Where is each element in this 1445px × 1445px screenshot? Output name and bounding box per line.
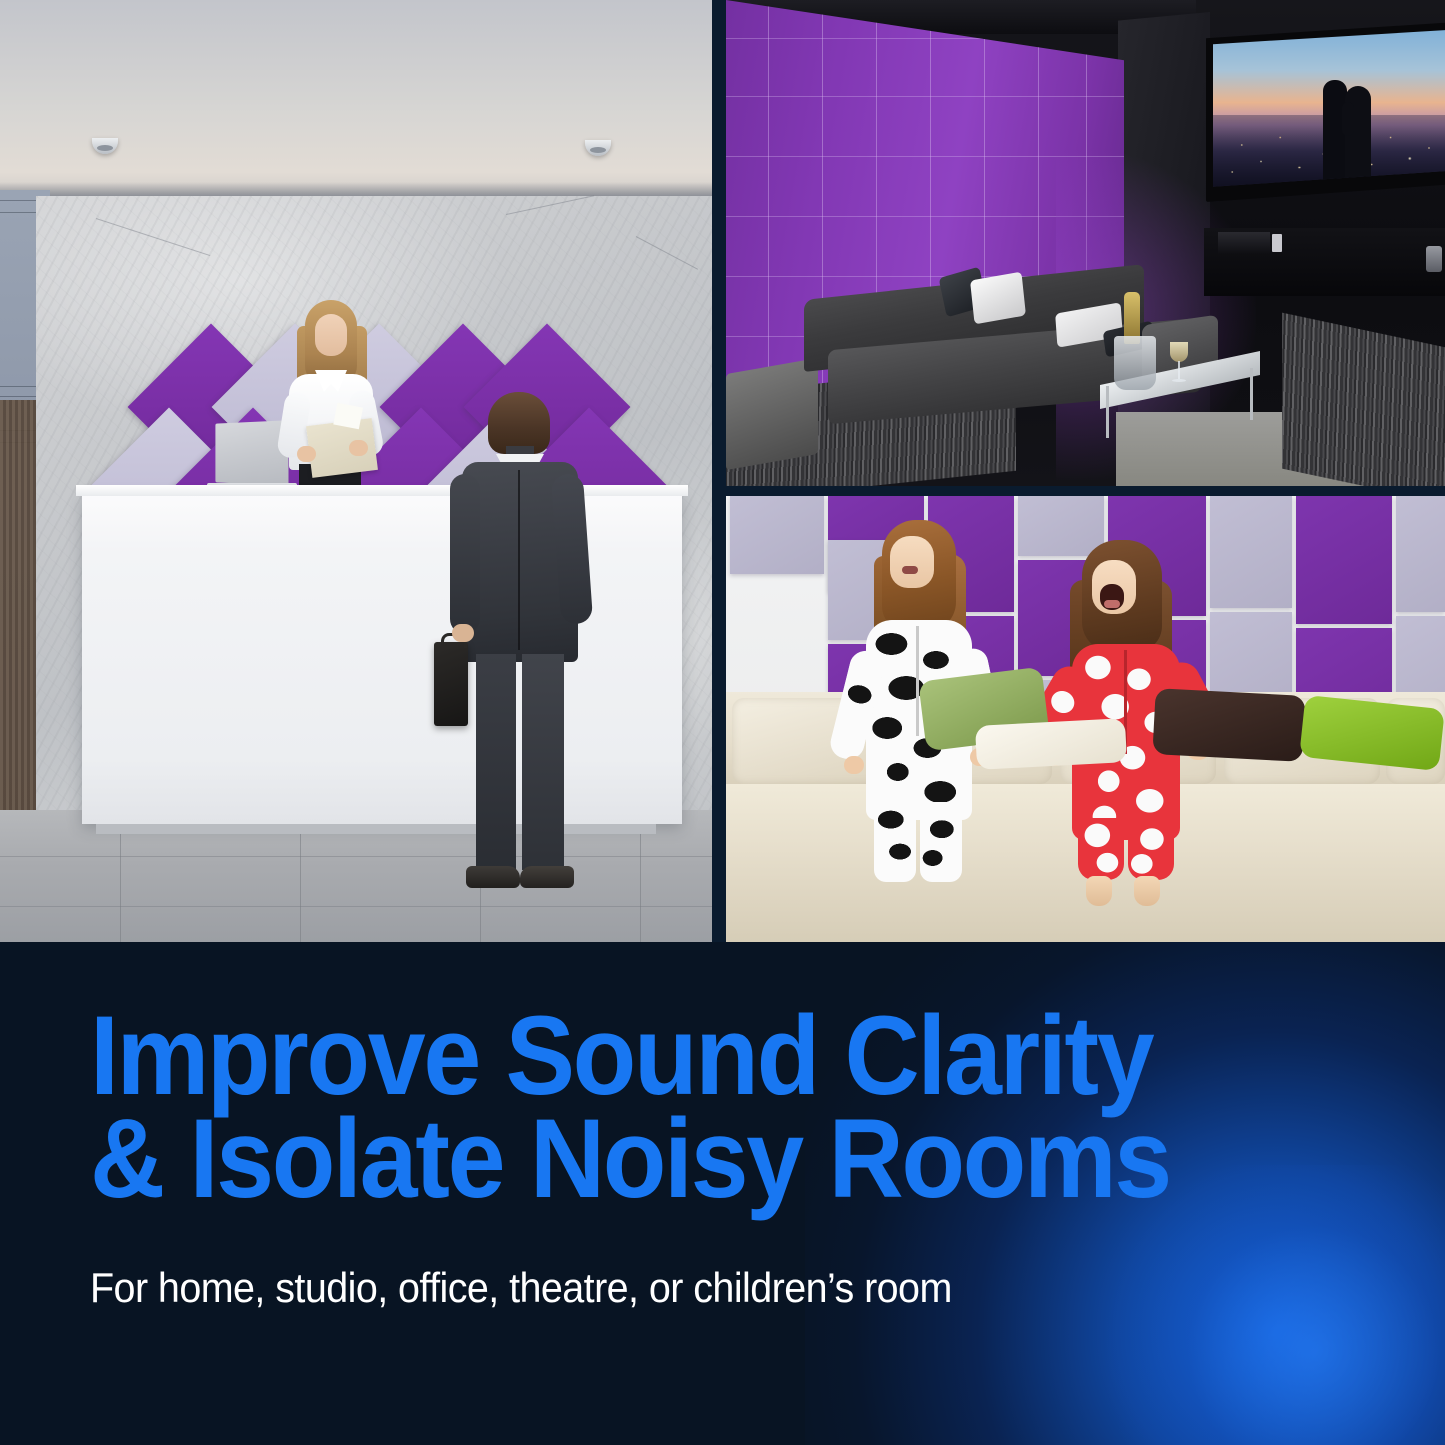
ice-bucket (1114, 336, 1156, 390)
headline-line-2: & Isolate Noisy Rooms (90, 1107, 1280, 1210)
receptionist-figure (283, 300, 379, 490)
marketing-copy-block: Improve Sound Clarity & Isolate Noisy Ro… (0, 942, 1445, 1445)
media-devices (1218, 232, 1270, 254)
photo-collage (0, 0, 1445, 942)
speaker (1426, 246, 1442, 272)
product-banner: Improve Sound Clarity & Isolate Noisy Ro… (0, 0, 1445, 1445)
reception-desk (82, 494, 682, 824)
projection-screen (1213, 28, 1445, 190)
photo-home-theater (726, 0, 1445, 486)
businessman-figure (450, 392, 590, 912)
subheadline: For home, studio, office, theatre, or ch… (90, 1264, 1293, 1312)
wine-glass (1170, 342, 1188, 386)
throw-pillow-white (975, 718, 1127, 770)
ceiling (0, 0, 712, 196)
wood-door (0, 400, 38, 820)
copy-container: Improve Sound Clarity & Isolate Noisy Ro… (90, 1004, 1370, 1312)
headline-line-1: Improve Sound Clarity (90, 1004, 1280, 1107)
throw-pillow-brown (1152, 688, 1305, 762)
briefcase (434, 642, 468, 726)
headline: Improve Sound Clarity & Isolate Noisy Ro… (90, 1004, 1280, 1210)
silhouette-woman (1345, 86, 1371, 183)
photo-office-reception (0, 0, 712, 942)
photo-childrens-room (726, 496, 1445, 942)
